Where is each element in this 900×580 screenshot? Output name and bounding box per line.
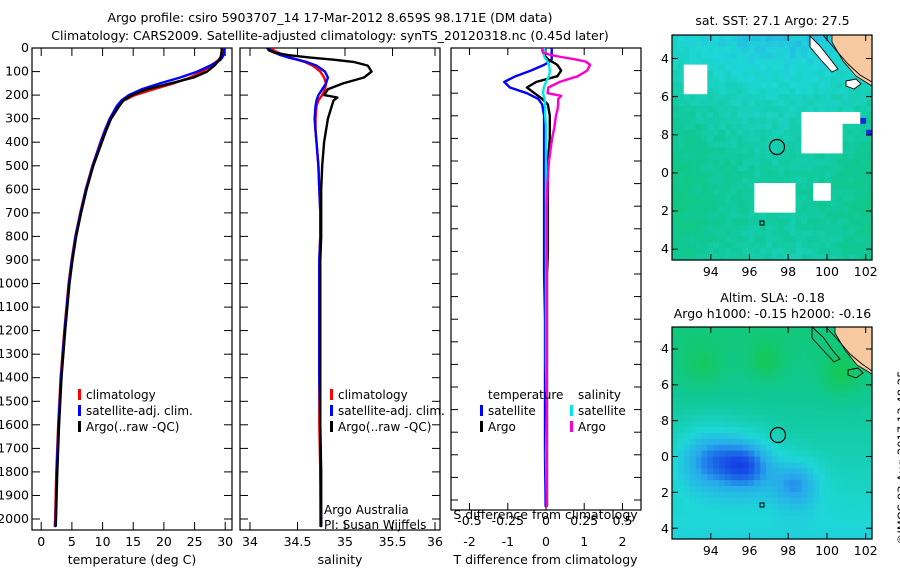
svg-text:100: 100	[815, 543, 839, 558]
svg-text:5: 5	[68, 534, 76, 549]
svg-text:-14: -14	[660, 241, 669, 256]
svg-text:25: 25	[187, 534, 203, 549]
legend-item-climatology: climatology	[78, 388, 193, 402]
svg-text:-2: -2	[463, 534, 475, 549]
svg-text:-10: -10	[660, 449, 669, 464]
svg-text:600: 600	[5, 181, 29, 196]
svg-text:34: 34	[242, 534, 258, 549]
svg-text:800: 800	[5, 228, 29, 243]
svg-text:1700: 1700	[0, 440, 29, 455]
svg-text:-14: -14	[660, 521, 669, 536]
svg-text:30: 30	[217, 534, 233, 549]
legend-swatch-sal-satellite-icon	[570, 405, 573, 416]
legend-item-argo: Argo(..raw -QC)	[78, 420, 193, 434]
argo-australia-note-line2: PI: Susan Wijffels	[324, 518, 426, 532]
svg-text:94: 94	[703, 543, 719, 558]
svg-text:-12: -12	[660, 203, 669, 218]
legend-swatch-temp-satellite-icon	[480, 405, 483, 416]
svg-text:0: 0	[37, 534, 45, 549]
svg-text:15: 15	[125, 534, 141, 549]
svg-text:-12: -12	[660, 485, 669, 500]
svg-text:102: 102	[854, 543, 878, 558]
svg-text:100: 100	[815, 264, 839, 279]
legend-item-satellite-adj: satellite-adj. clim.	[78, 404, 193, 418]
svg-text:1200: 1200	[0, 323, 29, 338]
svg-text:1500: 1500	[0, 393, 29, 408]
svg-text:-8: -8	[660, 413, 669, 428]
temperature-xaxis-label: temperature (deg C)	[32, 552, 232, 567]
legend-item-salinity-climatology: climatology	[330, 388, 445, 402]
map-sst: 949698 100102 -4-6-8 -10-12-14	[660, 30, 890, 290]
svg-text:96: 96	[742, 264, 758, 279]
svg-text:-1: -1	[502, 534, 514, 549]
svg-text:1: 1	[580, 534, 588, 549]
legend-item-salinity-argo: Argo(..raw -QC)	[330, 420, 445, 434]
salinity-xaxis-label: salinity	[240, 552, 440, 567]
svg-text:34.5: 34.5	[284, 534, 312, 549]
legend-difference-salinity: salinity satellite Argo	[570, 388, 626, 434]
legend-header-temperature: temperature	[488, 388, 563, 402]
map-sla-title-line1: Altim. SLA: -0.18	[660, 290, 885, 305]
svg-text:36: 36	[427, 534, 443, 549]
argo-australia-note-line1: Argo Australia	[324, 503, 409, 517]
svg-text:300: 300	[5, 111, 29, 126]
svg-text:96: 96	[742, 543, 758, 558]
panel-difference: -0.5-0.250 0.250.5 -2-10 12	[443, 0, 648, 580]
svg-text:98: 98	[780, 264, 796, 279]
svg-text:98: 98	[780, 543, 796, 558]
difference-salinity-axis-label: S difference from climatology	[443, 507, 648, 522]
legend-swatch-argo-icon	[330, 421, 333, 432]
legend-item-diff-sal-satellite: satellite	[570, 404, 626, 418]
svg-text:94: 94	[703, 264, 719, 279]
legend-swatch-satellite-adj-icon	[78, 405, 81, 416]
svg-text:0: 0	[21, 40, 29, 55]
legend-swatch-climatology-icon	[330, 389, 333, 400]
svg-text:35: 35	[337, 534, 353, 549]
panel-salinity: 3434.535 35.536	[238, 0, 443, 580]
legend-difference-temperature: temperature satellite Argo	[480, 388, 563, 434]
legend-salinity-panel: climatology satellite-adj. clim. Argo(..…	[330, 388, 445, 434]
svg-text:20: 20	[156, 534, 172, 549]
svg-text:1300: 1300	[0, 346, 29, 361]
svg-text:10: 10	[95, 534, 111, 549]
map-sst-title: sat. SST: 27.1 Argo: 27.5	[660, 13, 885, 28]
legend-item-salinity-satellite-adj: satellite-adj. clim.	[330, 404, 445, 418]
svg-text:-6: -6	[660, 89, 669, 104]
svg-text:102: 102	[854, 264, 878, 279]
legend-swatch-climatology-icon	[78, 389, 81, 400]
svg-text:-6: -6	[660, 377, 669, 392]
svg-text:0: 0	[542, 534, 550, 549]
legend-item-diff-temp-satellite: satellite	[480, 404, 563, 418]
map-sla: 949698 100102 -4-6-8 -10-12-14	[660, 322, 890, 580]
svg-text:2000: 2000	[0, 511, 29, 526]
map-sla-title-line2: Argo h1000: -0.15 h2000: -0.16	[655, 306, 890, 321]
svg-text:1000: 1000	[0, 276, 29, 291]
legend-swatch-sal-argo-icon	[570, 421, 573, 432]
svg-text:-4: -4	[660, 341, 669, 356]
svg-text:1800: 1800	[0, 464, 29, 479]
svg-text:-10: -10	[660, 165, 669, 180]
legend-header-salinity: salinity	[578, 388, 626, 402]
legend-item-diff-sal-argo: Argo	[570, 420, 626, 434]
imos-credit: ©IMOS 03-Aug-2017 13:48:25	[895, 370, 900, 545]
svg-text:400: 400	[5, 134, 29, 149]
svg-text:-8: -8	[660, 127, 669, 142]
svg-text:35.5: 35.5	[379, 534, 407, 549]
legend-temperature-panel: climatology satellite-adj. clim. Argo(..…	[78, 388, 193, 434]
legend-swatch-satellite-adj-icon	[330, 405, 333, 416]
svg-text:1100: 1100	[0, 299, 29, 314]
svg-text:900: 900	[5, 252, 29, 267]
svg-text:700: 700	[5, 205, 29, 220]
svg-text:500: 500	[5, 158, 29, 173]
svg-text:-4: -4	[660, 51, 669, 66]
svg-text:2: 2	[619, 534, 627, 549]
svg-text:1400: 1400	[0, 370, 29, 385]
legend-swatch-argo-icon	[78, 421, 81, 432]
legend-swatch-temp-argo-icon	[480, 421, 483, 432]
panel-temperature: 0510 152025 30 0100200 300400500 6007008…	[0, 0, 238, 580]
difference-temperature-axis-label: T difference from climatology	[443, 552, 648, 567]
svg-text:1900: 1900	[0, 488, 29, 503]
svg-text:100: 100	[5, 64, 29, 79]
svg-text:200: 200	[5, 87, 29, 102]
svg-text:1600: 1600	[0, 417, 29, 432]
legend-item-diff-temp-argo: Argo	[480, 420, 563, 434]
